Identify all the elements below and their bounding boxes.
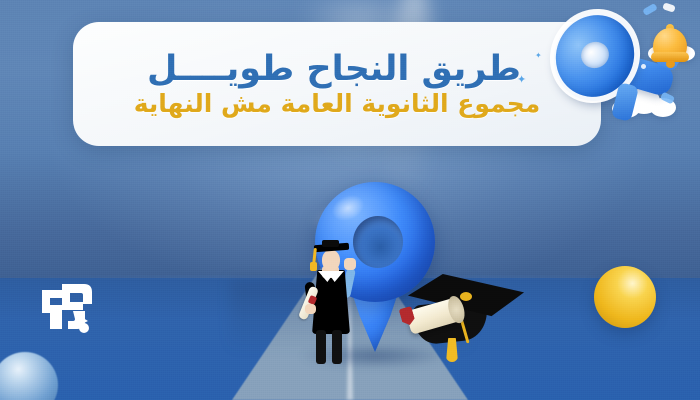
page-subtitle: مجموع الثانوية العامة مش النهاية [134,90,541,118]
graduate-shoe-left [316,330,324,364]
bell-icon [651,24,691,64]
confetti-chip [642,3,658,16]
confetti-dot [641,64,646,69]
graduate-gown [312,270,350,334]
watermark-logo [28,272,102,346]
graduate-mortarboard-crown [322,240,339,247]
confetti-chip [662,2,676,12]
graduate-figure [298,238,368,368]
graduate-fist [344,258,356,270]
bell-clapper [666,60,675,68]
megaphone-icon [545,2,695,130]
page-title: طريق النجاح طويــــل [147,51,527,88]
graduate-tassel-tip [310,262,317,271]
graduate-head [322,250,340,271]
graduate-legs [316,330,346,368]
poster-canvas: طريق النجاح طويــــل مجموع الثانوية العا… [0,0,700,400]
sparkle-icon: ✦ [517,74,526,85]
graduate-shoe-right [332,330,340,364]
graduation-cap-button [460,292,472,301]
sparkle-icon: ✦ [535,52,542,60]
confetti-chip [660,92,675,105]
graduate-hand [305,304,316,314]
yellow-sphere [594,266,656,328]
headline-banner: طريق النجاح طويــــل مجموع الثانوية العا… [73,22,601,146]
